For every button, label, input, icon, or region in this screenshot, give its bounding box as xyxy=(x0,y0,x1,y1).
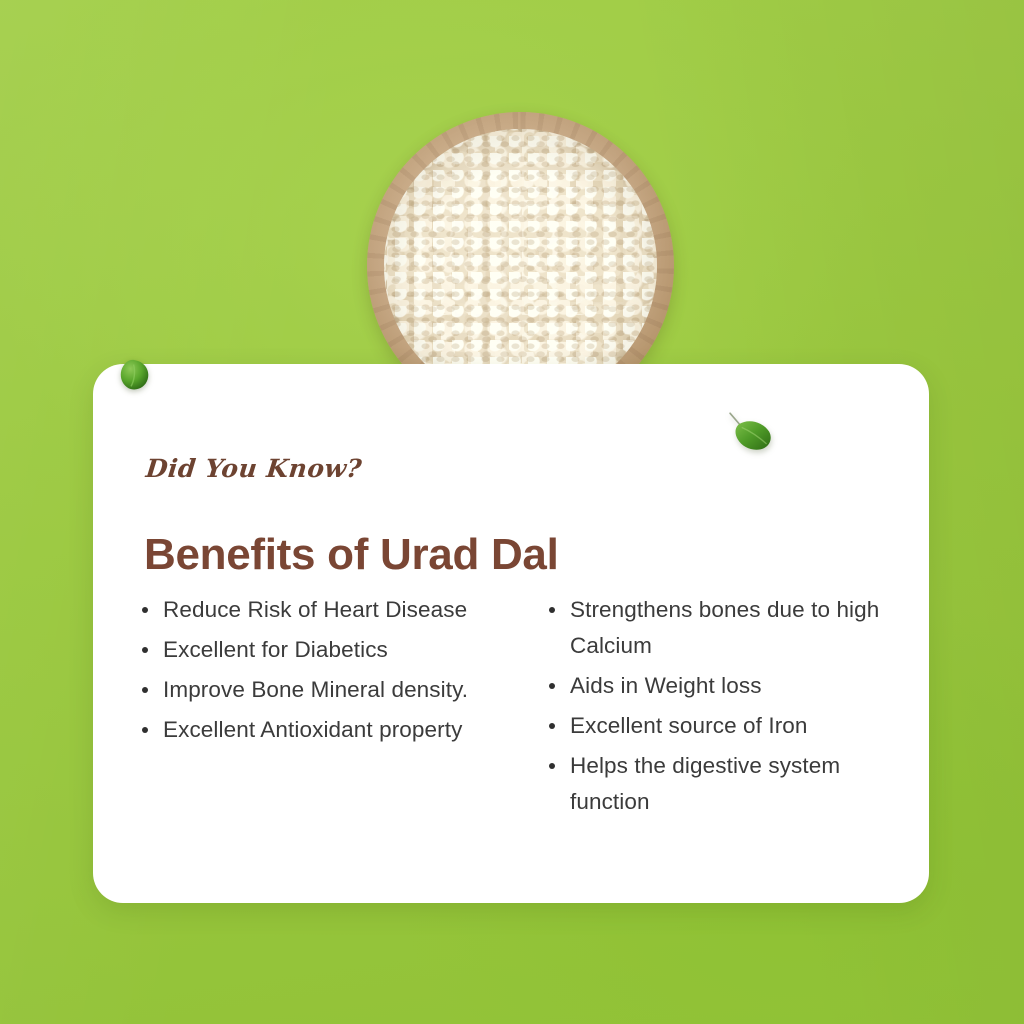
leaf-icon xyxy=(117,357,152,393)
benefits-columns: Reduce Risk of Heart Disease Excellent f… xyxy=(137,592,907,824)
list-item: Excellent Antioxidant property xyxy=(137,712,500,748)
list-item: Excellent source of Iron xyxy=(544,708,907,744)
list-item: Excellent for Diabetics xyxy=(137,632,500,668)
list-item: Reduce Risk of Heart Disease xyxy=(137,592,500,628)
list-item: Aids in Weight loss xyxy=(544,668,907,704)
leaf-icon xyxy=(721,408,779,460)
benefits-left-column: Reduce Risk of Heart Disease Excellent f… xyxy=(137,592,500,824)
page-title: Benefits of Urad Dal xyxy=(144,530,559,580)
benefits-list-left: Reduce Risk of Heart Disease Excellent f… xyxy=(137,592,500,748)
bowl-interior xyxy=(384,129,657,403)
benefits-card: Did You Know? Benefits of Urad Dal Reduc… xyxy=(93,364,929,903)
list-item: Strengthens bones due to high Calcium xyxy=(544,592,907,664)
list-item: Helps the digestive system function xyxy=(544,748,907,820)
urad-dal-lentils-shadow-texture xyxy=(384,129,657,403)
poster-canvas: Did You Know? Benefits of Urad Dal Reduc… xyxy=(0,0,1024,1024)
list-item: Improve Bone Mineral density. xyxy=(137,672,500,708)
benefits-right-column: Strengthens bones due to high Calcium Ai… xyxy=(520,592,907,824)
benefits-list-right: Strengthens bones due to high Calcium Ai… xyxy=(544,592,907,820)
kicker-did-you-know: Did You Know? xyxy=(144,454,363,483)
